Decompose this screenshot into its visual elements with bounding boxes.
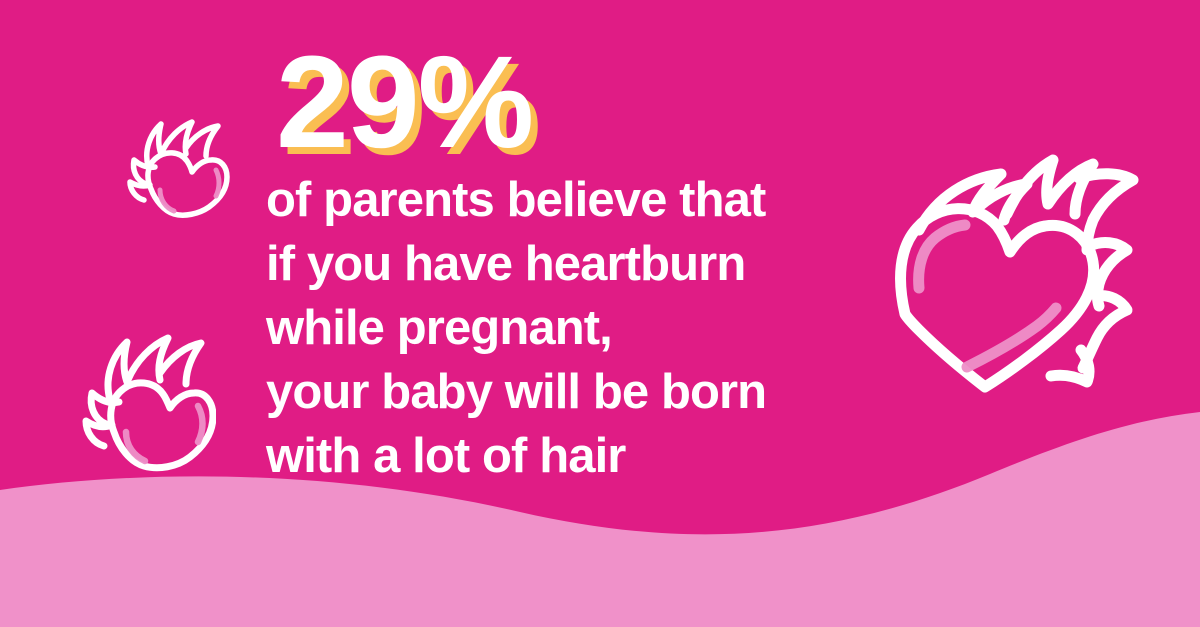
statement-line-2: if you have heartburn (266, 232, 906, 296)
headline-text-block: 29% of parents believe that if you have … (266, 38, 906, 488)
statement-paragraph: of parents believe that if you have hear… (266, 168, 906, 488)
statistic-percentage: 29% (266, 38, 906, 168)
flaming-heart-icon (124, 104, 230, 218)
statement-line-4: your baby will be born (266, 360, 906, 424)
flaming-heart-icon (80, 320, 216, 472)
infographic-poster: 29% of parents believe that if you have … (0, 0, 1200, 627)
statement-line-5: with a lot of hair (266, 424, 906, 488)
statement-line-1: of parents believe that (266, 168, 906, 232)
flaming-heart-icon (893, 138, 1143, 400)
statement-line-3: while pregnant, (266, 296, 906, 360)
